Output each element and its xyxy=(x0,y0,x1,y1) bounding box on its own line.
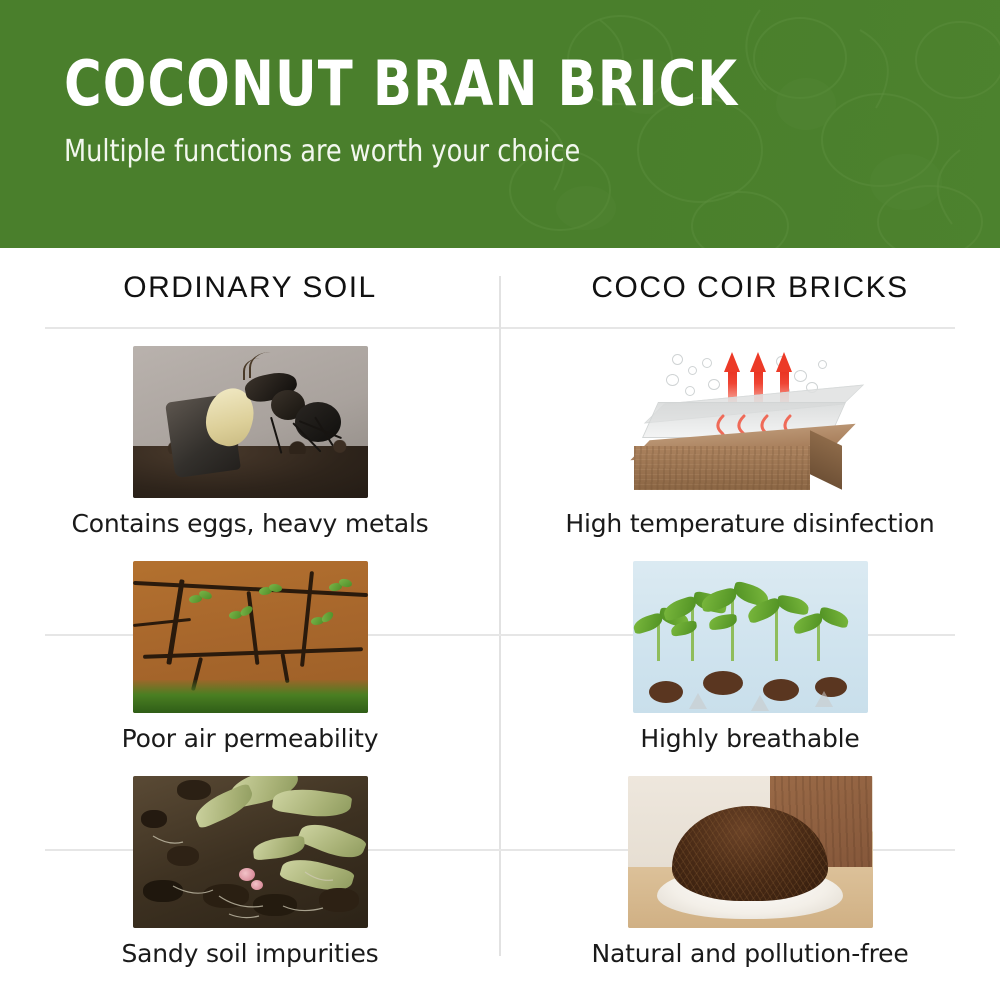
cell-high-temperature-disinfection: High temperature disinfection xyxy=(500,328,1000,543)
caption-text: Sandy soil impurities xyxy=(122,939,379,968)
table-row: Sandy soil impurities Natural and pollut… xyxy=(0,758,1000,973)
cell-sandy-soil-impurities: Sandy soil impurities xyxy=(0,758,500,973)
caption-text: Highly breathable xyxy=(640,724,859,753)
airflow-arrow-icon xyxy=(751,695,769,711)
cell-natural-and-pollution-free: Natural and pollution-free xyxy=(500,758,1000,973)
banner-text-block: COCONUT BRAN BRICK Multiple functions ar… xyxy=(64,48,797,172)
cracked-dry-soil-image xyxy=(133,561,368,713)
cell-contains-eggs: Contains eggs, heavy metals xyxy=(0,328,500,543)
coir-brick-heat-diagram xyxy=(628,346,873,498)
ant-on-soil-image xyxy=(133,346,368,498)
column-header-ordinary-soil: ORDINARY SOIL xyxy=(0,248,500,328)
caption-text: Natural and pollution-free xyxy=(591,939,908,968)
coir-fiber-pile-image xyxy=(628,776,873,928)
comparison-table: ORDINARY SOIL COCO COIR BRICKS xyxy=(0,248,1000,987)
ant-figure xyxy=(241,376,337,450)
airflow-arrow-icon xyxy=(815,691,833,707)
caption-text: Contains eggs, heavy metals xyxy=(71,509,428,538)
header-banner: COCONUT BRAN BRICK Multiple functions ar… xyxy=(0,0,1000,248)
seedlings-in-coir-image xyxy=(633,561,868,713)
caption-text: High temperature disinfection xyxy=(565,509,934,538)
caption-text: Poor air permeability xyxy=(122,724,379,753)
column-header-coco-coir-bricks: COCO COIR BRICKS xyxy=(500,248,1000,328)
page-subtitle: Multiple functions are worth your choice xyxy=(64,132,760,172)
table-row: Poor air permeability xyxy=(0,543,1000,758)
airflow-arrow-icon xyxy=(689,693,707,709)
page-title: COCONUT BRAN BRICK xyxy=(64,48,738,120)
soil-ground xyxy=(133,446,368,498)
cell-highly-breathable: Highly breathable xyxy=(500,543,1000,758)
grass-strip xyxy=(133,680,368,713)
table-row: Contains eggs, heavy metals xyxy=(0,328,1000,543)
brick-front-face xyxy=(634,446,810,490)
sandy-soil-impurities-image xyxy=(133,776,368,928)
root-fibers xyxy=(133,776,368,928)
cell-poor-air-permeability: Poor air permeability xyxy=(0,543,500,758)
comparison-rows: Contains eggs, heavy metals xyxy=(0,328,1000,973)
product-infographic: COCONUT BRAN BRICK Multiple functions ar… xyxy=(0,0,1000,987)
